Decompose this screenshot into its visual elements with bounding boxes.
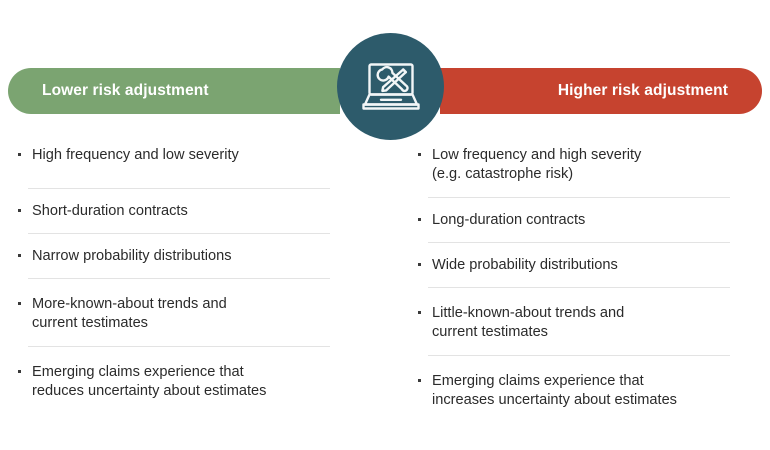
list-item: Emerging claims experience that increase… xyxy=(418,372,730,410)
bullet-icon xyxy=(18,295,32,305)
spacer xyxy=(18,234,330,247)
bullet-icon xyxy=(418,211,432,221)
bullet-icon xyxy=(18,202,32,212)
list-item: Short-duration contracts xyxy=(18,202,330,221)
list-item-label: Little-known-about trends and current te… xyxy=(432,304,730,342)
spacer xyxy=(18,266,330,278)
list-item: Low frequency and high severity (e.g. ca… xyxy=(418,146,730,184)
laptop-with-tools-icon xyxy=(337,33,444,140)
list-item: Little-known-about trends and current te… xyxy=(418,304,730,342)
spacer xyxy=(18,221,330,233)
spacer xyxy=(18,333,330,346)
list-item-label: Low frequency and high severity (e.g. ca… xyxy=(432,146,730,184)
spacer xyxy=(418,342,730,355)
spacer xyxy=(18,347,330,363)
bullet-icon xyxy=(418,256,432,266)
spacer xyxy=(418,356,730,372)
spacer xyxy=(418,275,730,287)
bullet-icon xyxy=(18,146,32,156)
spacer xyxy=(418,288,730,304)
list-item-label: Narrow probability distributions xyxy=(32,247,330,266)
list-item-label: High frequency and low severity xyxy=(32,146,330,165)
lower-risk-column: High frequency and low severity Short-du… xyxy=(0,146,400,410)
higher-risk-column: Low frequency and high severity (e.g. ca… xyxy=(400,146,770,410)
list-item: Emerging claims experience that reduces … xyxy=(18,363,330,401)
higher-risk-banner-label: Higher risk adjustment xyxy=(558,82,728,100)
spacer xyxy=(18,189,330,202)
spacer xyxy=(418,243,730,256)
list-item-label: Wide probability distributions xyxy=(432,256,730,275)
list-item: Narrow probability distributions xyxy=(18,247,330,266)
bullet-icon xyxy=(418,146,432,156)
bullet-icon xyxy=(18,247,32,257)
spacer xyxy=(418,230,730,242)
list-item-label: Long-duration contracts xyxy=(432,211,730,230)
list-item-label: More-known-about trends and current test… xyxy=(32,295,330,333)
laptop-with-tools-glyph xyxy=(359,59,423,115)
spacer xyxy=(18,279,330,295)
lower-risk-banner-label: Lower risk adjustment xyxy=(42,82,209,100)
lower-risk-banner: Lower risk adjustment xyxy=(8,68,340,114)
list-item: More-known-about trends and current test… xyxy=(18,295,330,333)
list-item-label: Emerging claims experience that increase… xyxy=(432,372,730,410)
bullet-icon xyxy=(418,304,432,314)
list-item: Wide probability distributions xyxy=(418,256,730,275)
higher-risk-banner: Higher risk adjustment xyxy=(440,68,762,114)
list-item-label: Short-duration contracts xyxy=(32,202,330,221)
bullet-icon xyxy=(18,363,32,373)
spacer xyxy=(418,198,730,211)
bullet-icon xyxy=(418,372,432,382)
list-item: High frequency and low severity xyxy=(18,146,330,165)
spacer xyxy=(418,184,730,197)
spacer xyxy=(18,165,330,188)
comparison-columns: High frequency and low severity Short-du… xyxy=(0,146,770,410)
list-item-label: Emerging claims experience that reduces … xyxy=(32,363,330,401)
list-item: Long-duration contracts xyxy=(418,211,730,230)
